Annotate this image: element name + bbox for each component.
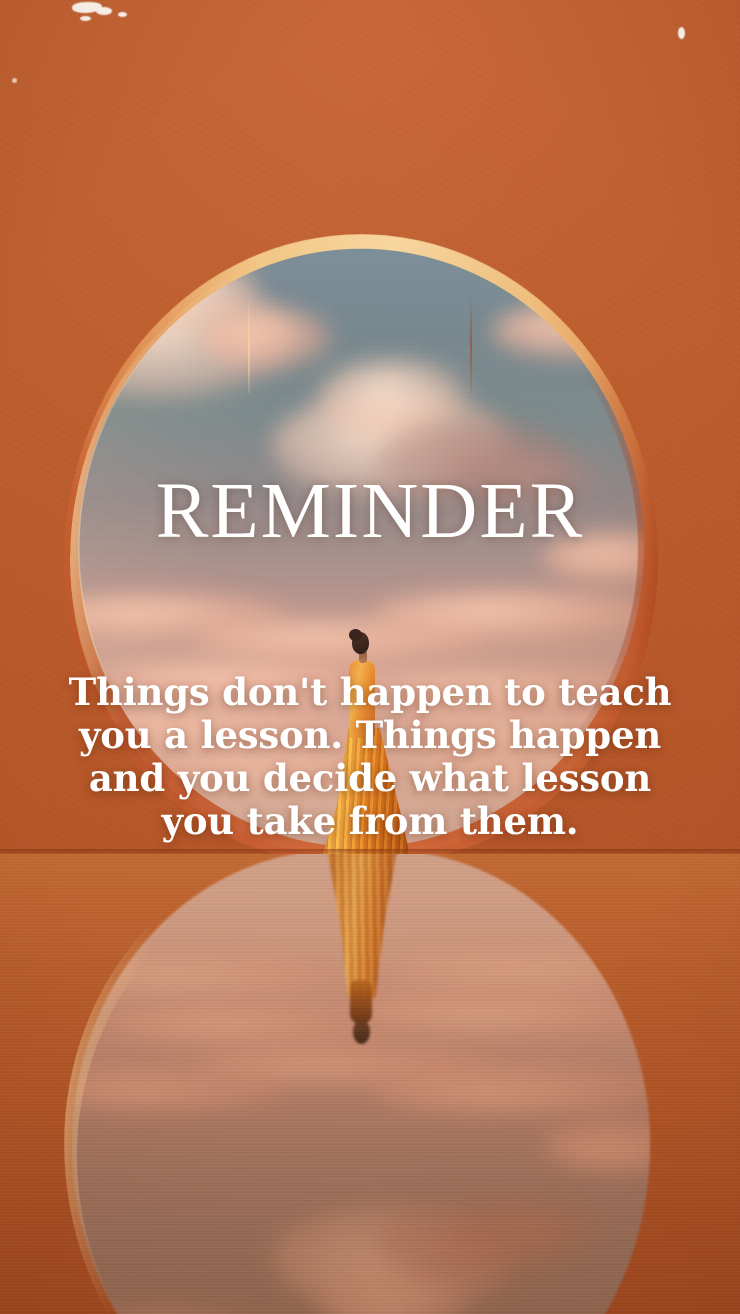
vignette-overlay bbox=[0, 0, 740, 1314]
page-title: REMINDER bbox=[0, 470, 740, 554]
quote-text: Things don't happen to teach you a lesso… bbox=[60, 671, 680, 843]
quote-card: REMINDER Things don't happen to teach yo… bbox=[0, 0, 740, 1314]
